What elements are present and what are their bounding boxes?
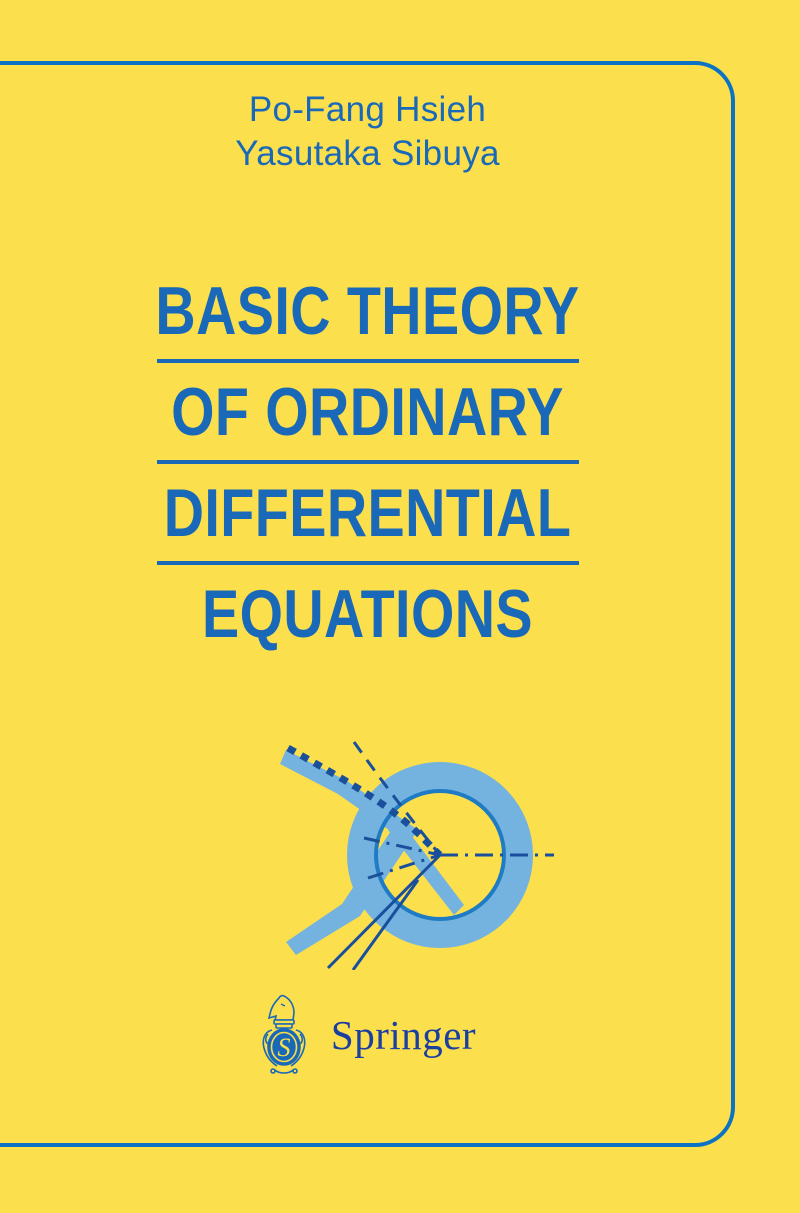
title-line-3: DIFFERENTIAL: [66, 474, 669, 552]
book-title: BASIC THEORY OF ORDINARY DIFFERENTIAL EQ…: [0, 272, 735, 653]
author-name-2: Yasutaka Sibuya: [0, 132, 735, 176]
author-block: Po-Fang Hsieh Yasutaka Sibuya: [0, 88, 735, 176]
title-line-2: OF ORDINARY: [66, 373, 669, 451]
title-rule-2: [157, 460, 579, 464]
diagram-bands: [280, 750, 518, 955]
ode-trajectory-diagram: [268, 720, 558, 970]
publisher-name: Springer: [331, 1015, 476, 1056]
publisher-block: S Springer: [0, 992, 735, 1078]
title-line-4: EQUATIONS: [66, 575, 669, 653]
title-line-1: BASIC THEORY: [66, 272, 669, 350]
title-rule-3: [157, 561, 579, 565]
author-name-1: Po-Fang Hsieh: [0, 88, 735, 132]
book-cover: Po-Fang Hsieh Yasutaka Sibuya BASIC THEO…: [0, 0, 800, 1213]
springer-knight-crest-logo: S: [259, 992, 315, 1078]
svg-text:S: S: [277, 1033, 290, 1062]
title-rule-1: [157, 359, 579, 363]
